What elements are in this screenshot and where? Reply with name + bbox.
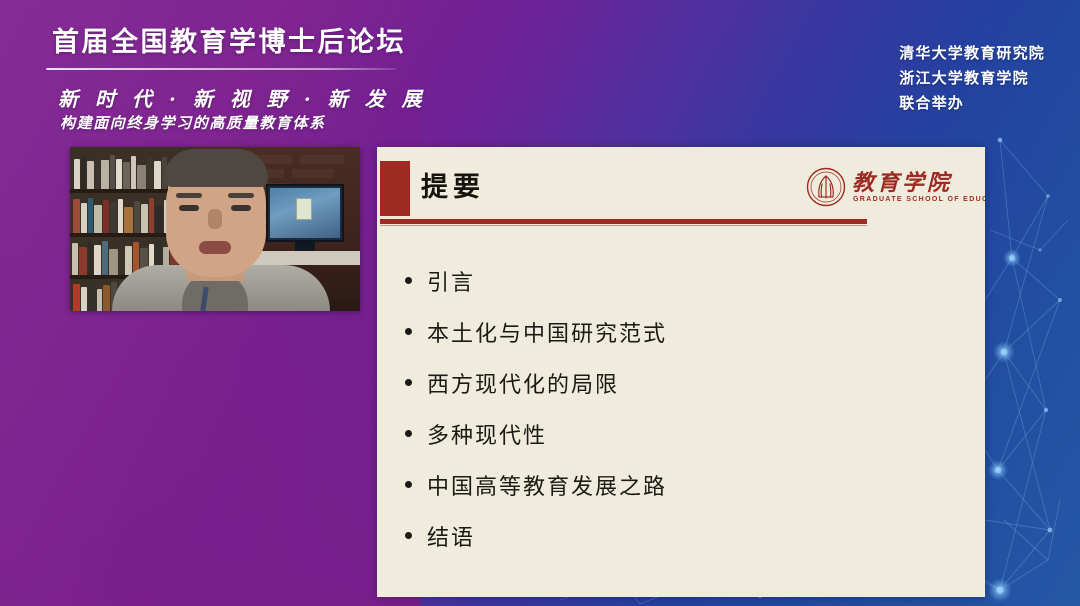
list-item: 西方现代化的局限 [405,357,950,408]
organizer-line-3: 联合举办 [899,91,1045,116]
presenter-hair [164,149,268,187]
logo-chinese-text: 教育学院 [852,165,952,197]
slide-title-accent-block [380,161,410,216]
bullet-dot-icon [405,328,412,335]
organizers-block: 清华大学教育研究院 浙江大学教育学院 联合举办 [899,41,1045,116]
presenter-eye-left [179,205,199,211]
slide-panel[interactable]: 提要 教育学院 GRADUATE SCHOOL OF EDUCATION 引言 … [377,147,985,597]
event-title: 首届全国教育学博士后论坛 [52,20,406,59]
event-sub-slogan: 构建面向终身学习的高质量教育体系 [60,112,326,133]
video-desk [246,251,360,265]
bullet-text: 中国高等教育发展之路 [427,469,667,501]
slide-title-rule-thin [380,225,867,226]
organizer-line-2: 浙江大学教育学院 [899,66,1045,91]
event-header: 首届全国教育学博士后论坛 新 时 代 · 新 视 野 · 新 发 展 构建面向终… [0,0,470,145]
presentation-stage: 首届全国教育学博士后论坛 新 时 代 · 新 视 野 · 新 发 展 构建面向终… [0,0,1080,606]
header-divider [46,68,396,70]
list-item: 引言 [405,255,950,306]
presenter-video-feed[interactable] [70,147,360,311]
bullet-dot-icon [405,430,412,437]
slide-bullet-list: 引言 本土化与中国研究范式 西方现代化的局限 多种现代性 中国高等教育发展之路 … [405,255,950,561]
presenter-mouth [199,241,231,254]
video-monitor [266,184,344,242]
presenter-nose [208,209,222,229]
organizer-line-1: 清华大学教育研究院 [899,41,1045,66]
presenter-eyebrow-left [176,193,202,198]
bullet-dot-icon [405,277,412,284]
bullet-text: 多种现代性 [427,418,547,450]
slide-title-rule [380,219,867,224]
list-item: 中国高等教育发展之路 [405,459,950,510]
bullet-text: 西方现代化的局限 [427,367,619,399]
bullet-text: 本土化与中国研究范式 [427,316,667,348]
presenter-eyebrow-right [228,193,254,198]
presenter-eye-right [231,205,251,211]
pku-seal-icon [806,167,846,207]
list-item: 本土化与中国研究范式 [405,306,950,357]
bullet-text: 引言 [427,265,475,297]
bullet-dot-icon [405,379,412,386]
bullet-text: 结语 [427,520,475,552]
bullet-dot-icon [405,481,412,488]
list-item: 多种现代性 [405,408,950,459]
slide-title: 提要 [421,165,485,204]
logo-english-text: GRADUATE SCHOOL OF EDUCATION [853,196,985,203]
event-slogan: 新 时 代 · 新 视 野 · 新 发 展 [58,83,427,112]
list-item: 结语 [405,510,950,561]
video-monitor-stand [295,242,315,251]
gse-logo: 教育学院 GRADUATE SCHOOL OF EDUCATION [806,163,971,215]
bullet-dot-icon [405,532,412,539]
